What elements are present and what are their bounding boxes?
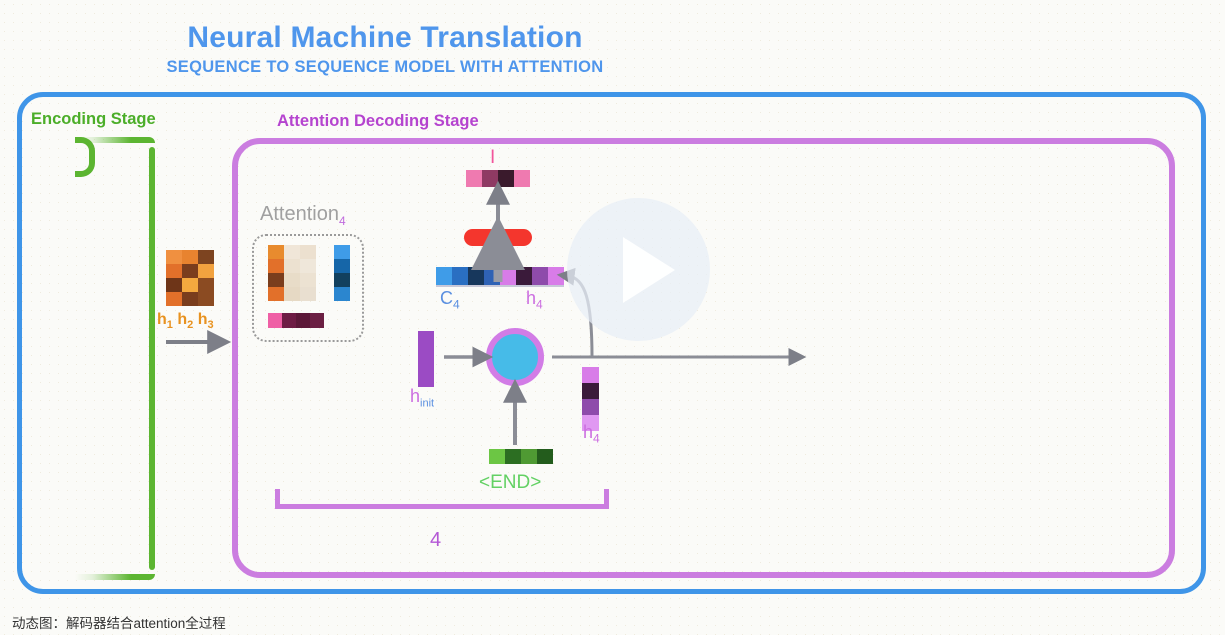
matrix-cell bbox=[300, 259, 316, 273]
diagram-canvas: Neural Machine Translation SEQUENCE TO S… bbox=[0, 0, 1225, 635]
matrix-cell bbox=[300, 273, 316, 287]
encoding-stage-label: Encoding Stage bbox=[31, 110, 156, 129]
context-label-subscript: 4 bbox=[453, 298, 460, 312]
vector-cell bbox=[466, 170, 482, 187]
encoder-border-right bbox=[149, 147, 155, 570]
matrix-cell bbox=[198, 250, 214, 264]
vector-cell bbox=[452, 267, 468, 285]
h4-label-text: h bbox=[583, 422, 593, 442]
vector-cell bbox=[582, 367, 599, 383]
attention-decoding-stage-container bbox=[232, 138, 1175, 578]
vector-cell bbox=[582, 383, 599, 399]
figure-caption: 动态图：解码器结合attention全过程 bbox=[12, 612, 226, 632]
attention-module-label: Attention4 bbox=[260, 203, 346, 228]
vector-cell bbox=[521, 449, 537, 464]
vector-cell bbox=[418, 331, 434, 345]
matrix-cell bbox=[300, 287, 316, 301]
matrix-cell bbox=[182, 292, 198, 306]
vector-cell bbox=[482, 170, 498, 187]
softmax-layer bbox=[464, 229, 532, 246]
attention-score-matrix bbox=[268, 245, 316, 301]
matrix-cell bbox=[182, 264, 198, 278]
title-block: Neural Machine Translation SEQUENCE TO S… bbox=[0, 22, 770, 77]
vector-cell bbox=[334, 259, 350, 273]
vector-cell bbox=[282, 313, 296, 328]
matrix-cell bbox=[182, 250, 198, 264]
matrix-cell bbox=[182, 278, 198, 292]
vector-cell bbox=[514, 170, 530, 187]
matrix-cell bbox=[284, 287, 300, 301]
vector-cell bbox=[489, 449, 505, 464]
vector-cell bbox=[505, 449, 521, 464]
matrix-cell bbox=[284, 273, 300, 287]
vector-cell bbox=[516, 267, 532, 285]
vector-cell bbox=[418, 345, 434, 359]
vector-cell bbox=[532, 267, 548, 285]
matrix-cell bbox=[166, 292, 182, 306]
vector-cell bbox=[537, 449, 553, 464]
hinit-label-text: h bbox=[410, 386, 420, 406]
vector-cell bbox=[268, 313, 282, 328]
vector-cell bbox=[310, 313, 324, 328]
end-token-label: <END> bbox=[479, 472, 541, 494]
matrix-cell bbox=[284, 259, 300, 273]
context-vector-label: C4 bbox=[440, 288, 460, 312]
vector-cell bbox=[498, 170, 514, 187]
decoder-rnn-cell bbox=[486, 328, 544, 386]
h4-label-subscript: 4 bbox=[593, 432, 600, 446]
matrix-cell bbox=[284, 245, 300, 259]
matrix-cell bbox=[198, 278, 214, 292]
vector-cell bbox=[484, 267, 500, 285]
vector-cell bbox=[418, 373, 434, 387]
encoder-corner-bottom-right bbox=[75, 157, 95, 177]
context-label-text: C bbox=[440, 288, 453, 308]
encoder-border-bottom bbox=[75, 574, 155, 580]
matrix-cell bbox=[268, 287, 284, 301]
output-token-vector bbox=[466, 170, 530, 187]
context-hidden-concat-vector bbox=[436, 267, 564, 285]
attention-weights-vector bbox=[268, 313, 324, 328]
hidden-label-subscript: 4 bbox=[536, 298, 543, 312]
timestep-bracket bbox=[275, 489, 609, 509]
vector-cell bbox=[500, 267, 516, 285]
matrix-cell bbox=[300, 245, 316, 259]
hidden-state-label-top: h4 bbox=[526, 288, 543, 312]
predicted-token-label: I bbox=[490, 148, 495, 167]
vector-cell bbox=[436, 267, 452, 285]
hinit-label-subscript: init bbox=[420, 398, 434, 410]
matrix-cell bbox=[268, 245, 284, 259]
play-icon[interactable] bbox=[623, 237, 675, 303]
page-title: Neural Machine Translation bbox=[0, 22, 770, 54]
matrix-cell bbox=[198, 264, 214, 278]
attention-decoding-stage-label: Attention Decoding Stage bbox=[277, 112, 479, 131]
vector-cell bbox=[296, 313, 310, 328]
h4-output-label: h4 bbox=[583, 422, 600, 446]
matrix-cell bbox=[166, 264, 182, 278]
hinit-label: hinit bbox=[410, 386, 434, 410]
matrix-cell bbox=[166, 250, 182, 264]
vector-cell bbox=[334, 245, 350, 259]
encoder-hidden-state-matrix bbox=[166, 250, 214, 306]
page-subtitle: SEQUENCE TO SEQUENCE MODEL WITH ATTENTIO… bbox=[0, 58, 770, 77]
matrix-cell bbox=[166, 278, 182, 292]
vector-cell bbox=[334, 287, 350, 301]
encoding-stage-container bbox=[75, 137, 155, 580]
timestep-label: 4 bbox=[430, 529, 441, 552]
vector-cell bbox=[582, 399, 599, 415]
encoder-hidden-state-labels: h1 h2 h3 bbox=[157, 311, 214, 331]
attention-label-text: Attention bbox=[260, 203, 339, 225]
matrix-cell bbox=[268, 273, 284, 287]
vector-cell bbox=[548, 267, 564, 285]
matrix-cell bbox=[268, 259, 284, 273]
attention-label-subscript: 4 bbox=[339, 214, 346, 228]
encoder-border-top bbox=[75, 137, 155, 143]
matrix-cell bbox=[198, 292, 214, 306]
vector-cell bbox=[334, 273, 350, 287]
hidden-label-text: h bbox=[526, 288, 536, 308]
encoder-states-vector bbox=[334, 245, 350, 301]
vector-cell bbox=[468, 267, 484, 285]
end-token-vector bbox=[489, 449, 553, 464]
vector-cell bbox=[418, 359, 434, 373]
hinit-vector bbox=[418, 331, 434, 387]
concat-underline bbox=[436, 285, 564, 287]
